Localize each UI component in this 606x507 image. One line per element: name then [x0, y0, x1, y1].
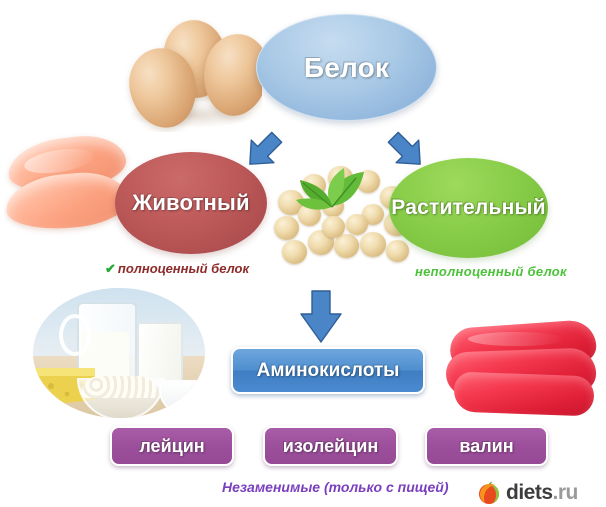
amino-acid-valine[interactable]: валин [425, 426, 548, 466]
watermark-name: diets [506, 481, 553, 504]
red-meat-photo [444, 306, 602, 420]
caption-complete-protein: ✔полноценный белок [105, 261, 249, 277]
dairy-products-photo [33, 288, 205, 418]
caption-essential-amino-acids: Незаменимые (только с пищей) [222, 479, 449, 495]
node-plant-protein[interactable]: Растительный [389, 158, 548, 258]
caption-incomplete-protein: неполноценный белок [415, 264, 567, 279]
check-icon: ✔ [105, 261, 116, 276]
eggs-photo [118, 14, 262, 132]
infographic-canvas: Белок Животный Растительный Аминокислоты… [0, 0, 606, 507]
caption-complete-protein-text: полноценный белок [118, 261, 249, 276]
node-protein[interactable]: Белок [256, 14, 437, 121]
watermark-tld: .ru [553, 481, 578, 504]
node-amino-acids[interactable]: Аминокислоты [231, 347, 425, 394]
node-animal-protein[interactable]: Животный [115, 152, 267, 254]
chicken-fillet-photo [4, 130, 136, 240]
amino-acid-leucine[interactable]: лейцин [110, 426, 234, 466]
arrow-down-left [240, 126, 288, 174]
amino-acid-isoleucine[interactable]: изолейцин [263, 426, 398, 466]
apple-logo-icon [477, 481, 501, 505]
arrow-down [296, 288, 346, 344]
watermark[interactable]: diets.ru [477, 481, 578, 505]
